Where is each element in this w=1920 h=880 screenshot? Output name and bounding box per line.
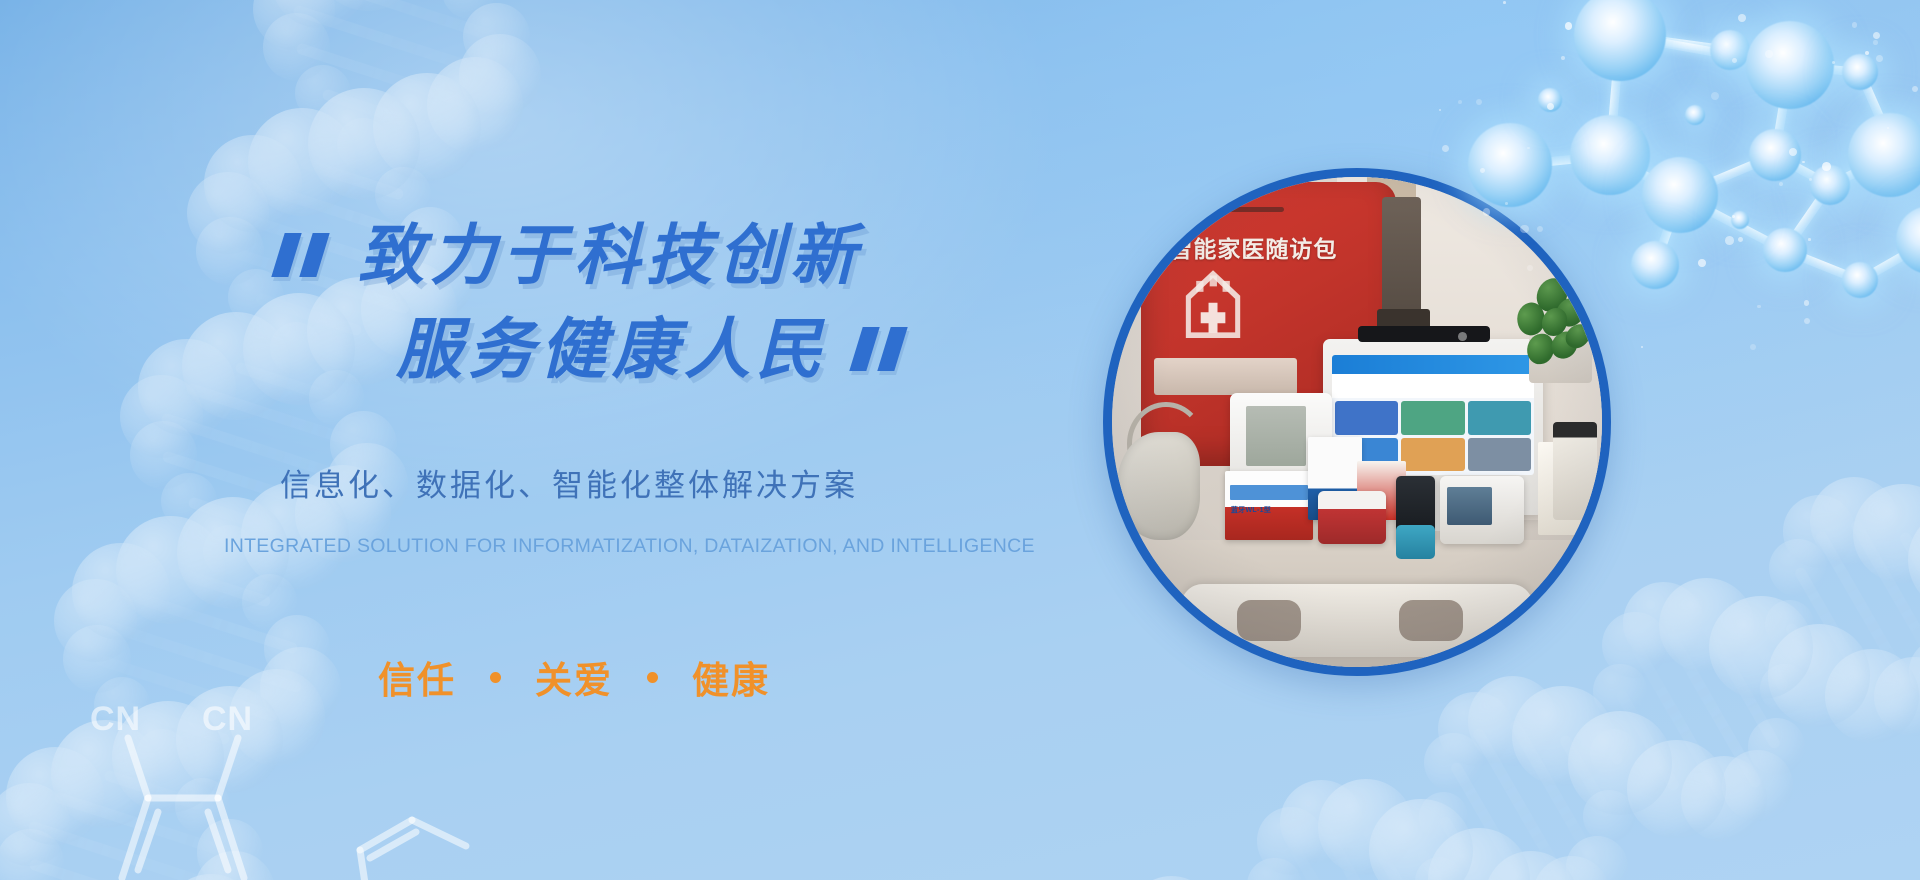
helix-bead: [1593, 664, 1646, 717]
helix-rung: [1756, 645, 1789, 692]
helix-rung: [1702, 623, 1782, 750]
molecule-bond: [1856, 70, 1894, 142]
sparkle-dot: [1804, 300, 1809, 305]
helix-bead: [1748, 718, 1805, 775]
headline-line-1-text: 致力于科技创新: [358, 222, 862, 288]
helix-bead: [1623, 582, 1704, 663]
sparkle-dot: [1698, 259, 1705, 266]
molecule-node: [1731, 211, 1749, 229]
sparkle-dot: [1725, 236, 1734, 245]
tagline-word-care: 关爱: [535, 650, 613, 704]
subtitle-english: INTEGRATED SOLUTION FOR INFORMATIZATION,…: [224, 535, 1035, 558]
helix-bead: [1369, 799, 1473, 880]
helix-bead: [1760, 664, 1809, 713]
helix-bead: [1908, 508, 1920, 612]
helix-bead: [1512, 686, 1613, 787]
sparkle-dot: [1547, 103, 1554, 110]
tagline-separator-dot-2: [647, 672, 658, 683]
helix-bead: [1583, 790, 1634, 841]
helix-rung: [1785, 622, 1824, 679]
quote-open-icon: [276, 233, 334, 277]
sparkle-dot: [1804, 318, 1810, 324]
molecule-bond: [1606, 35, 1625, 156]
helix-rung: [1416, 848, 1444, 880]
molecule-node: [1896, 206, 1920, 274]
molecule-node: [1642, 157, 1718, 233]
tagline-separator-dot-1: [490, 672, 501, 683]
sparkle-dot: [1873, 40, 1877, 44]
helix-bead: [1810, 477, 1898, 565]
helix-bead: [1424, 733, 1484, 793]
molecule-bond: [1773, 151, 1832, 189]
helix-rung: [1814, 529, 1919, 699]
helix-bead: [1783, 495, 1855, 567]
headline-line-1: 致力于科技创新: [276, 222, 862, 288]
sparkle-dot: [1750, 344, 1756, 350]
quote-close-icon: [854, 327, 912, 371]
helix-bead: [1419, 792, 1469, 842]
helix-bead: [1590, 729, 1638, 777]
headline-line-2: 服务健康人民: [396, 316, 912, 382]
helix-bead: [1126, 876, 1217, 880]
sparkle-dot: [1912, 86, 1918, 92]
helix-bead: [1257, 807, 1324, 874]
tagline-word-health: 健康: [692, 650, 770, 704]
headline-line-2-text: 服务健康人民: [396, 316, 828, 382]
sparkle-dot: [1873, 32, 1880, 39]
sparkle-dot: [1765, 50, 1773, 58]
helix-bead: [1722, 750, 1793, 821]
helix-bead: [1825, 649, 1919, 743]
molecule-node: [1538, 88, 1562, 112]
sparkle-dot: [1865, 51, 1870, 56]
helix-bead: [1468, 676, 1557, 765]
molecule-bond: [1771, 64, 1795, 155]
helix-rung: [1630, 642, 1729, 802]
helix-bead: [1602, 612, 1668, 678]
helix-rung: [1508, 719, 1602, 870]
helix-bead: [1318, 779, 1414, 875]
molecule-node: [1746, 21, 1834, 109]
product-photo-content: 智能家医随访包: [1112, 177, 1602, 667]
helix-bead: [1659, 578, 1754, 673]
helix-bead: [1247, 858, 1301, 880]
subtitle-chinese: 信息化、数据化、智能化整体解决方案: [280, 460, 858, 505]
molecule-bond: [1886, 140, 1895, 155]
helix-bead: [1765, 600, 1814, 649]
helix-bead: [1438, 692, 1512, 766]
molecule-bond: [1608, 151, 1682, 199]
sparkle-dot: [1852, 22, 1858, 28]
helix-bead: [1415, 857, 1463, 880]
helix-bead: [1533, 856, 1611, 880]
tagline-word-trust: 信任: [378, 650, 456, 704]
sparkle-dot: [1876, 55, 1883, 62]
helix-rung: [1316, 819, 1419, 880]
helix-rung: [1286, 839, 1387, 880]
sparkle-dot: [1779, 182, 1783, 186]
molecule-bond: [1828, 151, 1892, 189]
helix-bead: [1853, 484, 1920, 584]
sparkle-dot: [1439, 109, 1442, 112]
molecule-node: [1810, 165, 1850, 205]
sparkle-dot: [1641, 346, 1643, 348]
helix-bead: [1485, 851, 1577, 880]
molecule-node: [1763, 228, 1807, 272]
helix-bead: [1909, 639, 1920, 703]
helix-rung: [1615, 689, 1681, 792]
helix-rung: [1558, 734, 1614, 820]
helix-rung: [1898, 531, 1920, 626]
sparkle-dot: [1476, 99, 1482, 105]
helix-bead: [1428, 828, 1530, 880]
helix-rung: [1471, 727, 1576, 880]
sparkle-dot: [1832, 61, 1835, 64]
helix-bead: [1280, 780, 1363, 863]
sparkle-dot: [1802, 161, 1804, 163]
molecule-bond: [1790, 61, 1861, 77]
molecule-bond: [1651, 193, 1684, 266]
helix-bead: [1769, 539, 1827, 597]
sparkle-dot: [1789, 148, 1797, 156]
sparkle-dot: [1732, 58, 1737, 63]
molecule-node: [1710, 30, 1750, 70]
molecule-bond: [1619, 31, 1791, 70]
sparkle-dot: [1503, 1, 1506, 4]
helix-bead: [1874, 657, 1920, 737]
helix-bead: [1681, 756, 1767, 842]
molecule-node: [1848, 113, 1920, 197]
sparkle-dot: [1442, 145, 1449, 152]
molecule-node: [1874, 124, 1906, 156]
sparkle-dot: [1565, 22, 1573, 30]
helix-bead: [1709, 596, 1812, 699]
sparkle-dot: [1738, 14, 1746, 22]
molecule-node: [1574, 0, 1666, 81]
molecule-node: [1749, 129, 1801, 181]
molecule-bond: [1510, 151, 1611, 170]
helix-bead: [1768, 624, 1871, 727]
molecule-bond: [1619, 31, 1730, 55]
product-photo-circle: 智能家医随访包: [1103, 168, 1611, 676]
photo-vignette: [1112, 177, 1602, 667]
molecule-bond: [1781, 182, 1833, 252]
molecule-node: [1842, 54, 1878, 90]
sparkle-dot: [1809, 178, 1812, 181]
molecule-bond: [1678, 151, 1776, 199]
helix-bead: [1627, 740, 1726, 839]
sparkle-dot: [1808, 238, 1811, 241]
promo-banner: CN CN 致力于科技创新 服务健康人民 信息化、数据化、智能化整体解决方案 I…: [0, 0, 1920, 880]
helix-rung: [1609, 751, 1625, 767]
molecule-node: [1685, 105, 1705, 125]
molecule-bond: [1783, 246, 1861, 284]
sparkle-dot: [1458, 100, 1462, 104]
sparkle-dot: [1561, 56, 1565, 60]
helix-rung: [1794, 566, 1877, 700]
molecule-bond: [1858, 236, 1920, 284]
helix-rung: [1449, 760, 1536, 880]
sparkle-dot: [1711, 92, 1719, 100]
molecule-node: [1842, 262, 1878, 298]
tagline-values: 信任 关爱 健康: [378, 650, 770, 704]
helix-bead: [1566, 836, 1629, 880]
sparkle-dot: [1527, 147, 1530, 150]
sparkle-dot: [1480, 168, 1485, 173]
copy-block: 致力于科技创新 服务健康人民 信息化、数据化、智能化整体解决方案 INTEGRA…: [0, 0, 1060, 880]
helix-rung: [1659, 620, 1763, 789]
helix-rung: [1849, 519, 1920, 675]
molecule-node: [1631, 241, 1679, 289]
helix-rung: [1361, 825, 1436, 880]
sparkle-dot: [1732, 215, 1735, 218]
sparkle-dot: [1822, 162, 1831, 171]
sparkle-dot: [1887, 127, 1889, 129]
helix-bead: [1568, 711, 1672, 815]
sparkle-dot: [1738, 237, 1743, 242]
molecule-bond: [1678, 191, 1787, 254]
sparkle-dot: [1757, 305, 1761, 309]
helix-rung: [1439, 815, 1484, 880]
